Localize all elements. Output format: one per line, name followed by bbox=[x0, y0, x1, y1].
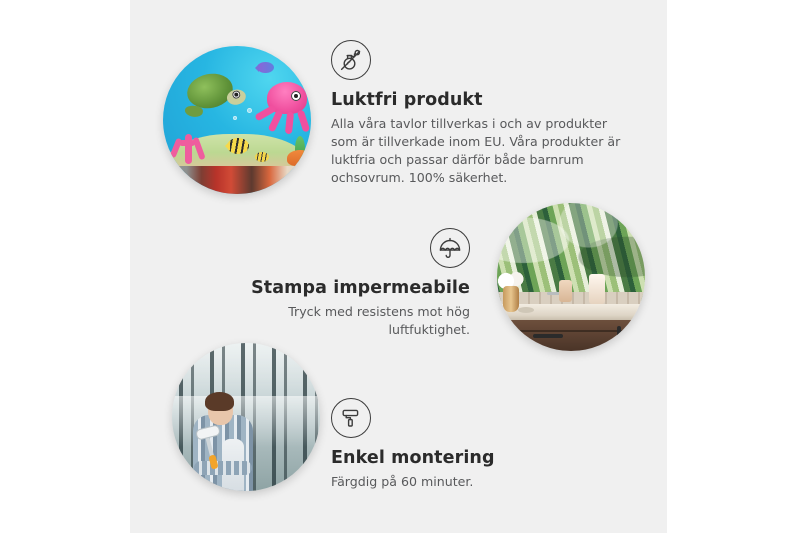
bathroom-scene bbox=[497, 203, 645, 351]
ocean-scene bbox=[163, 46, 311, 194]
person-folded-arms bbox=[194, 461, 252, 475]
yellow-fish-icon bbox=[227, 138, 249, 154]
purple-fish-icon bbox=[257, 62, 274, 73]
bubble-icon bbox=[247, 108, 252, 113]
product-photo-ocean bbox=[163, 46, 311, 194]
bubble-icon bbox=[233, 116, 237, 120]
octopus-eye-icon bbox=[291, 91, 301, 101]
feature-description: Tryck med resistens mot hög luftfuktighe… bbox=[218, 303, 470, 339]
wooden-vanity bbox=[497, 320, 645, 351]
feature-title: Luktfri produkt bbox=[331, 90, 631, 112]
gold-vase bbox=[503, 286, 519, 312]
cabinet-handle bbox=[617, 326, 621, 352]
feature-odourless: Luktfri produkt Alla våra tavlor tillver… bbox=[331, 40, 631, 187]
drawer-handle bbox=[533, 334, 563, 338]
soap-dish bbox=[518, 307, 534, 313]
photo-bottom-strip bbox=[163, 166, 311, 194]
small-fish-icon bbox=[255, 152, 269, 162]
coral-icon bbox=[171, 130, 209, 164]
infographic-stage: Luktfri produkt Alla våra tavlor tillver… bbox=[0, 0, 800, 533]
toiletry-bottle bbox=[559, 280, 572, 302]
feature-title: Stampa impermeabile bbox=[218, 278, 470, 300]
crab-icon bbox=[287, 150, 311, 166]
cabinet-handle bbox=[635, 326, 639, 352]
product-photo-bathroom bbox=[497, 203, 645, 351]
product-photo-person bbox=[172, 343, 320, 491]
turtle-eye-icon bbox=[232, 90, 241, 99]
no-fragrance-icon bbox=[331, 40, 371, 80]
feature-title: Enkel montering bbox=[331, 448, 591, 470]
feature-mounting: Enkel montering Färgdig på 60 minuter. bbox=[331, 398, 591, 491]
feature-description: Färgdig på 60 minuter. bbox=[331, 473, 591, 491]
person-scene bbox=[172, 343, 320, 491]
feature-waterproof: Stampa impermeabile Tryck med resistens … bbox=[218, 228, 470, 339]
umbrella-icon bbox=[430, 228, 470, 268]
toiletry-bottle bbox=[589, 274, 605, 304]
feature-description: Alla våra tavlor tillverkas i och av pro… bbox=[331, 115, 623, 188]
paint-roller-icon bbox=[331, 398, 371, 438]
person-hair bbox=[205, 392, 234, 411]
